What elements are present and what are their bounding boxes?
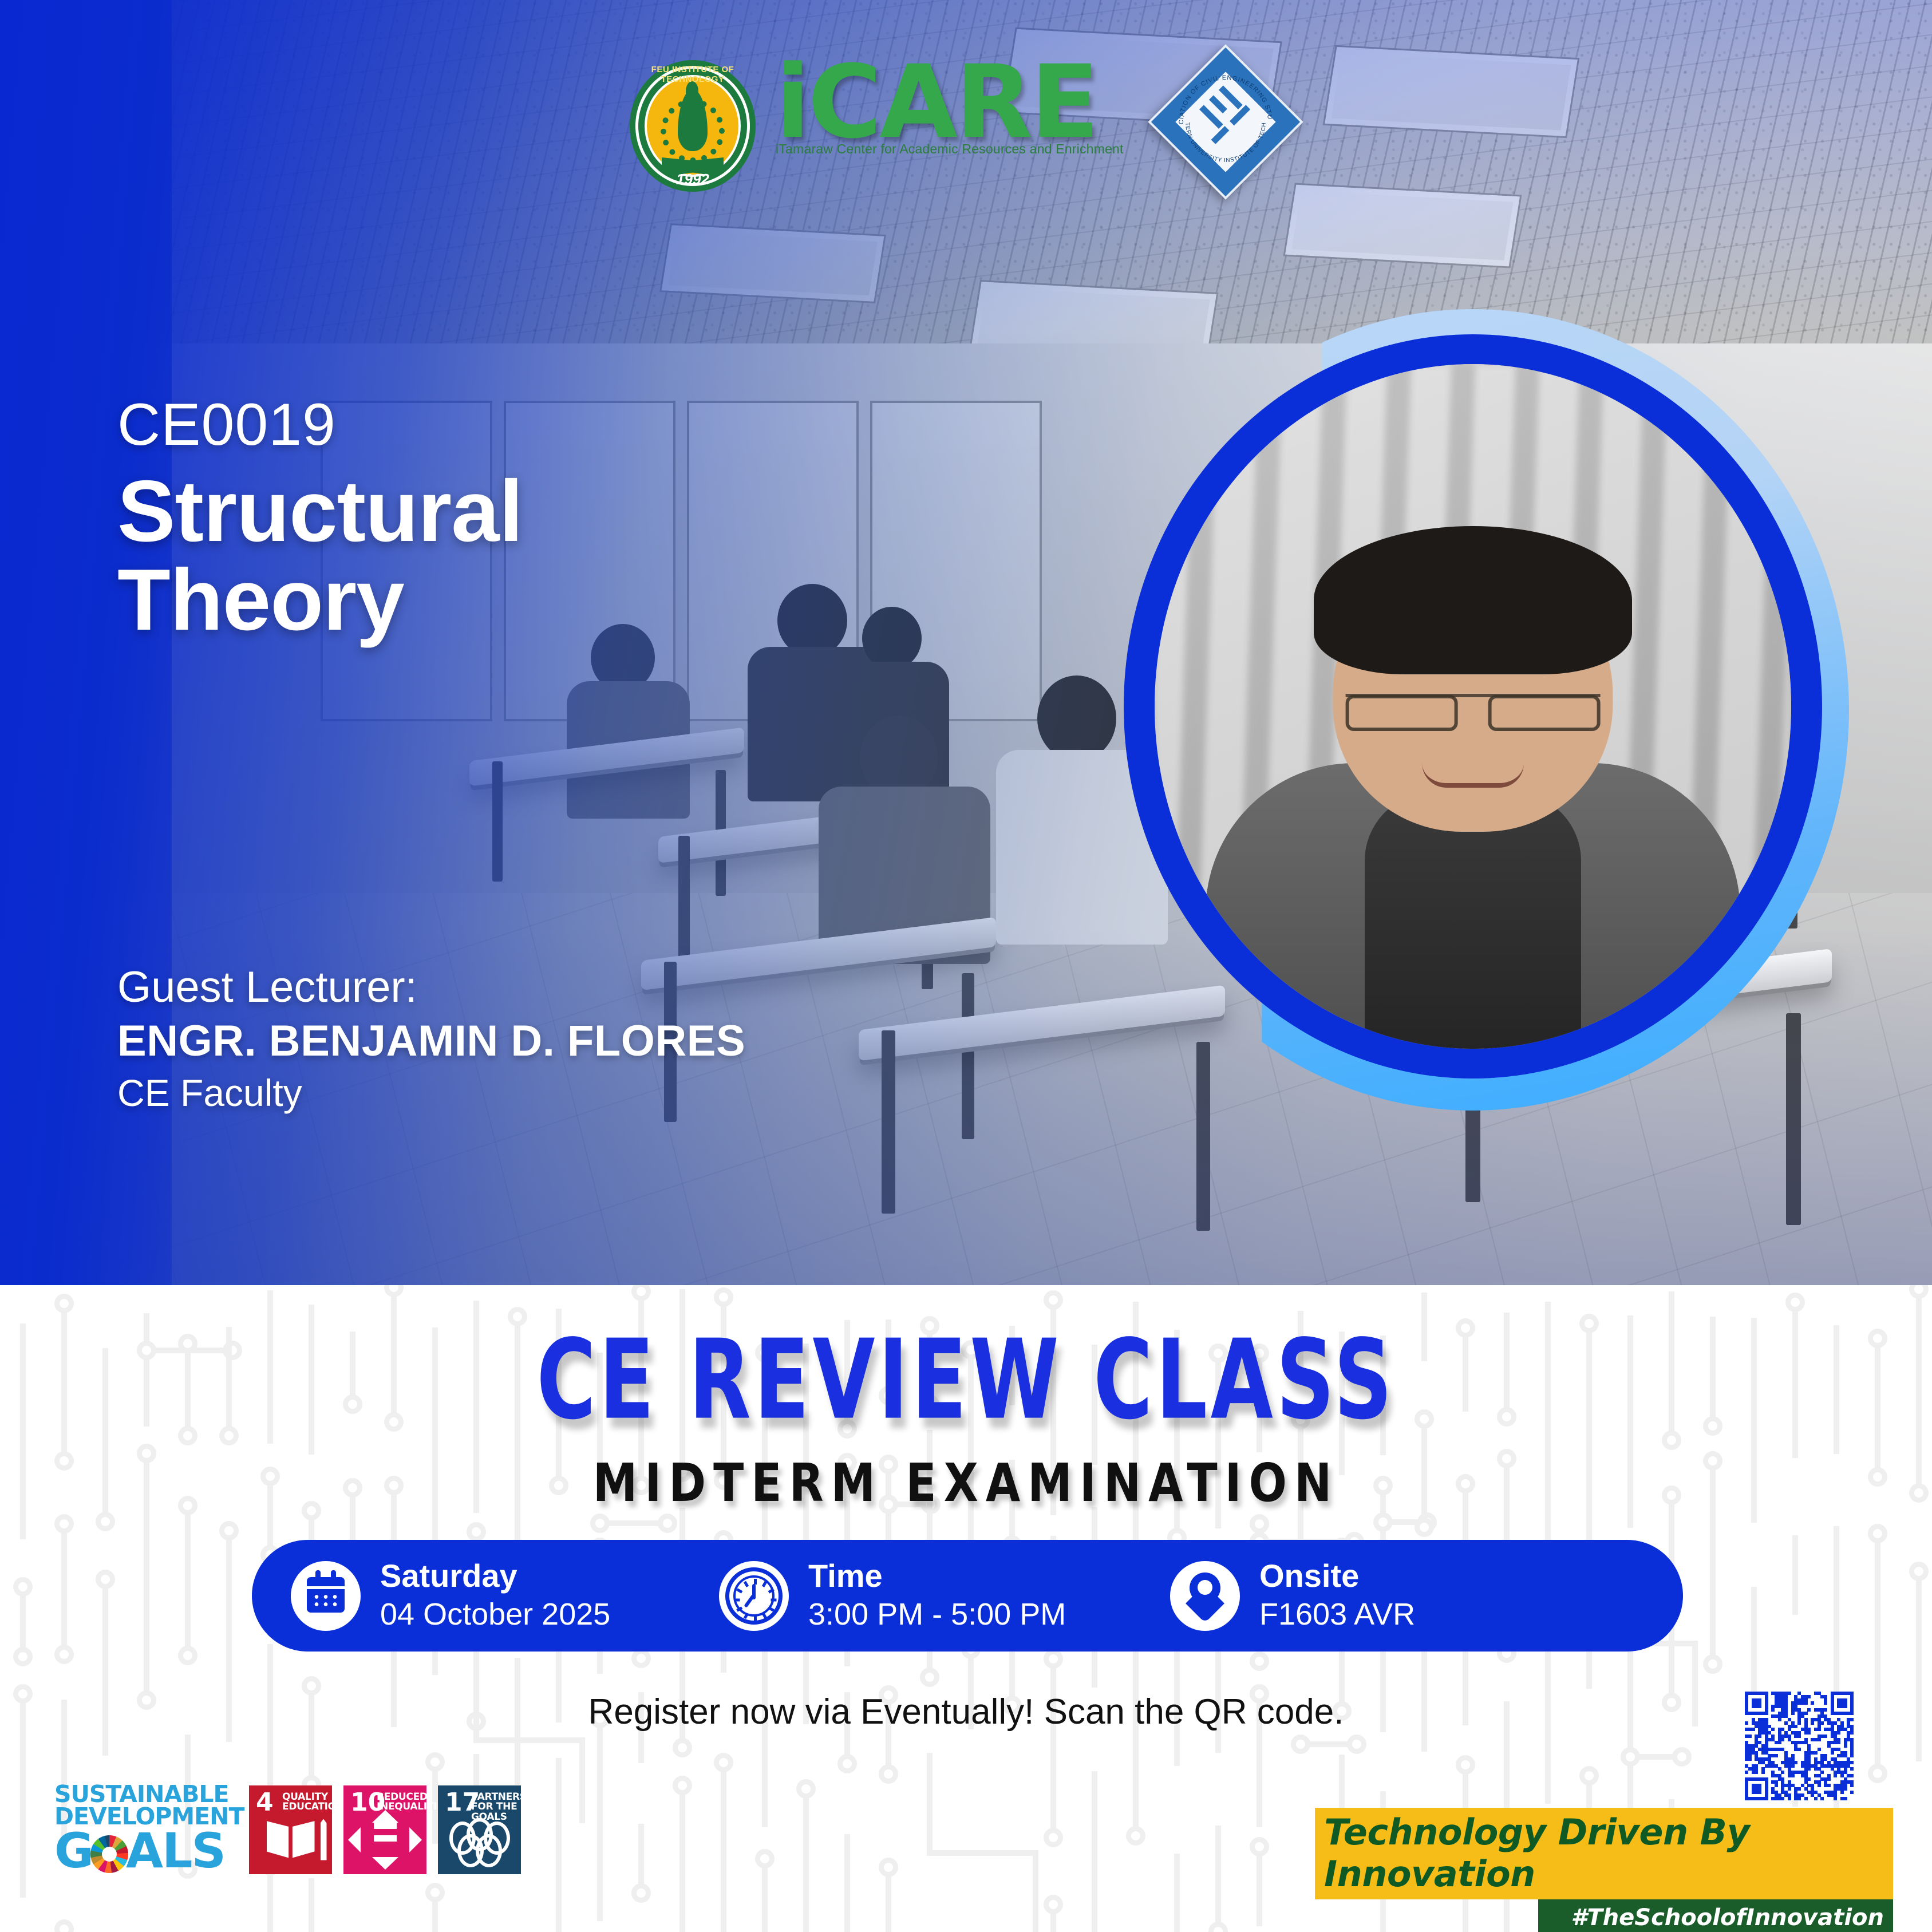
circuit-pad [54, 1514, 74, 1534]
circuit-pad [714, 1287, 733, 1307]
circuit-trace [1257, 1847, 1262, 1926]
feu-tagline-block: Technology Driven By Innovation #TheScho… [1315, 1808, 1893, 1932]
course-title-line2: Theory [117, 556, 1091, 645]
circuit-pad [1044, 1895, 1063, 1914]
detail-item-date: Saturday 04 October 2025 [291, 1540, 703, 1652]
course-title-line1: Structural [117, 467, 1091, 556]
sdg-tile-4: 4 QUALITYEDUCATION [249, 1785, 332, 1874]
circuit-pad [13, 1647, 33, 1666]
circuit-pad [1868, 1524, 1887, 1543]
lecturer-label: Guest Lecturer: [117, 962, 745, 1013]
circuit-pad [96, 1512, 115, 1531]
circuit-pad [920, 1668, 939, 1687]
clock-icon [719, 1561, 789, 1631]
circuit-pad [658, 1514, 677, 1533]
circuit-pad [1044, 1290, 1063, 1310]
circuit-trace [927, 1753, 933, 1856]
poster-root: FEU INSTITUTE OF TECHNOLOGY 1992 iCARE i… [0, 0, 1932, 1932]
circuit-pad [879, 1858, 898, 1877]
book-icon [249, 1818, 332, 1867]
qr-code[interactable] [1745, 1692, 1854, 1800]
circuit-pad [178, 1646, 197, 1665]
circuit-trace [309, 1878, 314, 1932]
detail-date-title: Saturday [380, 1558, 610, 1594]
announcement-subheadline: MIDTERM EXAMINATION [0, 1453, 1932, 1514]
circuit-pad [1621, 1747, 1640, 1767]
course-code: CE0019 [117, 395, 1091, 455]
circuit-pad [879, 1764, 898, 1784]
circuit-pad [631, 1285, 651, 1301]
circuit-pad [96, 1570, 115, 1589]
svg-text:ASSOCIATION OF CIVIL ENGINEERI: ASSOCIATION OF CIVIL ENGINEERING STUDENT… [1171, 67, 1273, 124]
circuit-pad [631, 1883, 651, 1903]
feu-tagline-hashtag: #TheSchoolofInnovation [1538, 1899, 1893, 1932]
circuit-trace [473, 1737, 582, 1743]
portrait-photo [1155, 364, 1791, 1049]
sdg-block: SUSTAINABLE DEVELOPMENT GALS 4 QUALITYED… [54, 1783, 521, 1874]
circuit-pad [54, 1645, 74, 1664]
circuit-trace [267, 1866, 273, 1932]
aces-ring-text: ASSOCIATION OF CIVIL ENGINEERING STUDENT… [1171, 67, 1281, 177]
circuit-trace [185, 1506, 191, 1656]
circuit-pad [1250, 1514, 1269, 1534]
sdg-color-wheel [90, 1835, 128, 1873]
hero-text-block: CE0019 Structural Theory [117, 395, 1091, 645]
circuit-trace [1875, 1534, 1880, 1773]
circuit-pad [425, 1883, 445, 1902]
detail-venue-value: F1603 AVR [1259, 1597, 1415, 1633]
circuit-trace [20, 1587, 26, 1657]
circuit-trace [762, 1645, 768, 1827]
icare-tagline: iTamaraw Center for Academic Resources a… [776, 141, 1124, 157]
circuit-pad [13, 1577, 33, 1597]
sdg-tile-4-number: 4 [256, 1790, 274, 1815]
circuit-trace [61, 1524, 67, 1654]
event-details-bar: Saturday 04 October 2025 [252, 1540, 1683, 1652]
circuit-trace [579, 1737, 585, 1823]
calendar-icon [291, 1561, 361, 1631]
circuit-pad [1347, 1735, 1366, 1754]
hero-photo-panel: FEU INSTITUTE OF TECHNOLOGY 1992 iCARE i… [0, 0, 1932, 1285]
circuit-trace [844, 1834, 850, 1932]
circuit-pad [755, 1849, 775, 1868]
circuit-trace [597, 1718, 603, 1921]
sdg-tile-4-label: QUALITYEDUCATION [282, 1792, 329, 1812]
equality-arrows-icon [343, 1818, 426, 1867]
circuit-trace [1174, 1854, 1180, 1932]
circuit-pad [1291, 1735, 1310, 1754]
circuit-pad [219, 1521, 239, 1540]
circuit-pad [1044, 1649, 1063, 1669]
circuit-trace [721, 1763, 726, 1932]
circuit-pad [1868, 1764, 1887, 1783]
lecturer-name: ENGR. BENJAMIN D. FLORES [117, 1013, 745, 1070]
detail-item-venue: Onsite F1603 AVR [1170, 1540, 1571, 1652]
circuit-pad [1909, 1562, 1929, 1581]
announcement-headline: CE REVIEW CLASS [58, 1317, 1874, 1444]
circuit-pad [467, 1522, 486, 1542]
feu-seal-logo: FEU INSTITUTE OF TECHNOLOGY 1992 [630, 60, 756, 192]
circuit-trace [1916, 1571, 1922, 1761]
logo-row: FEU INSTITUTE OF TECHNOLOGY 1992 iCARE i… [630, 54, 1305, 192]
location-pin-icon [1170, 1561, 1240, 1631]
sdg-word-goals: GALS [54, 1828, 238, 1874]
sdg-tile-10: 10 REDUCEDINEQUALITIES [343, 1785, 426, 1874]
detail-item-time: Time 3:00 PM - 5:00 PM [719, 1540, 1154, 1652]
circuit-trace [1033, 1850, 1038, 1932]
circuit-pad [1373, 1512, 1393, 1532]
circuit-pad [1579, 1766, 1599, 1785]
circuit-trace [556, 1758, 562, 1932]
circuit-pad [837, 1754, 857, 1773]
circuit-pad [631, 1649, 651, 1668]
detail-venue-title: Onsite [1259, 1558, 1415, 1594]
speaker-portrait [1062, 309, 1863, 1128]
circuit-pad [1208, 1922, 1228, 1932]
circuit-pad [384, 1285, 404, 1297]
register-instruction: Register now via Eventually! Scan the QR… [0, 1692, 1932, 1732]
circuit-pad [1250, 1652, 1269, 1671]
circuit-pad [673, 1776, 692, 1795]
circuit-pad [1703, 1654, 1722, 1674]
circuit-pad [1785, 1293, 1805, 1312]
circuit-pad [54, 1919, 74, 1932]
circuit-pad [1456, 1755, 1475, 1775]
circuit-pad [714, 1753, 733, 1772]
lecturer-role: CE Faculty [117, 1069, 745, 1117]
circuit-pad [1250, 1837, 1269, 1856]
aces-logo: ASSOCIATION OF CIVIL ENGINEERING STUDENT… [1171, 67, 1281, 177]
icare-wordmark: iCARE iTamaraw Center for Academic Resou… [776, 61, 1124, 157]
lecturer-block: Guest Lecturer: ENGR. BENJAMIN D. FLORES… [117, 962, 745, 1117]
circuit-pad [1044, 1828, 1063, 1847]
announcement-block: CE REVIEW CLASS MIDTERM EXAMINATION [0, 1317, 1932, 1504]
circuit-pad [1415, 1518, 1434, 1537]
detail-time-value: 3:00 PM - 5:00 PM [808, 1597, 1066, 1633]
circuit-pad [1672, 1747, 1692, 1767]
icare-wordmark-text: iCARE [776, 61, 1124, 144]
circuit-trace [927, 1850, 1036, 1856]
feu-seal-year: 1992 [630, 171, 756, 188]
circuit-trace [1215, 1826, 1221, 1931]
circuit-pad [796, 1779, 816, 1799]
circuit-pad [590, 1514, 610, 1533]
circuit-trace [762, 1859, 768, 1932]
circuit-pad [673, 1738, 692, 1757]
circuit-pad [425, 1752, 445, 1772]
sdg-tile-17: 17 PARTNERSHIPSFOR THE GOALS [438, 1785, 521, 1874]
detail-date-value: 04 October 2025 [380, 1597, 610, 1633]
partnership-rings-icon [438, 1818, 521, 1867]
circuit-pad [54, 1294, 74, 1313]
circuit-trace [1792, 1535, 1798, 1615]
circuit-pad [1126, 1826, 1145, 1846]
sdg-wordmark: SUSTAINABLE DEVELOPMENT GALS [54, 1783, 238, 1874]
circuit-trace [679, 1785, 685, 1932]
detail-time-title: Time [808, 1558, 1066, 1594]
circuit-pad [1909, 1285, 1929, 1299]
feu-seal-name: FEU INSTITUTE OF TECHNOLOGY [630, 65, 756, 84]
circuit-trace [1050, 1659, 1056, 1838]
circuit-trace [638, 1824, 644, 1893]
circuit-trace [1092, 1771, 1097, 1932]
feu-tagline-primary: Technology Driven By Innovation [1315, 1808, 1893, 1899]
circuit-trace [803, 1789, 809, 1932]
